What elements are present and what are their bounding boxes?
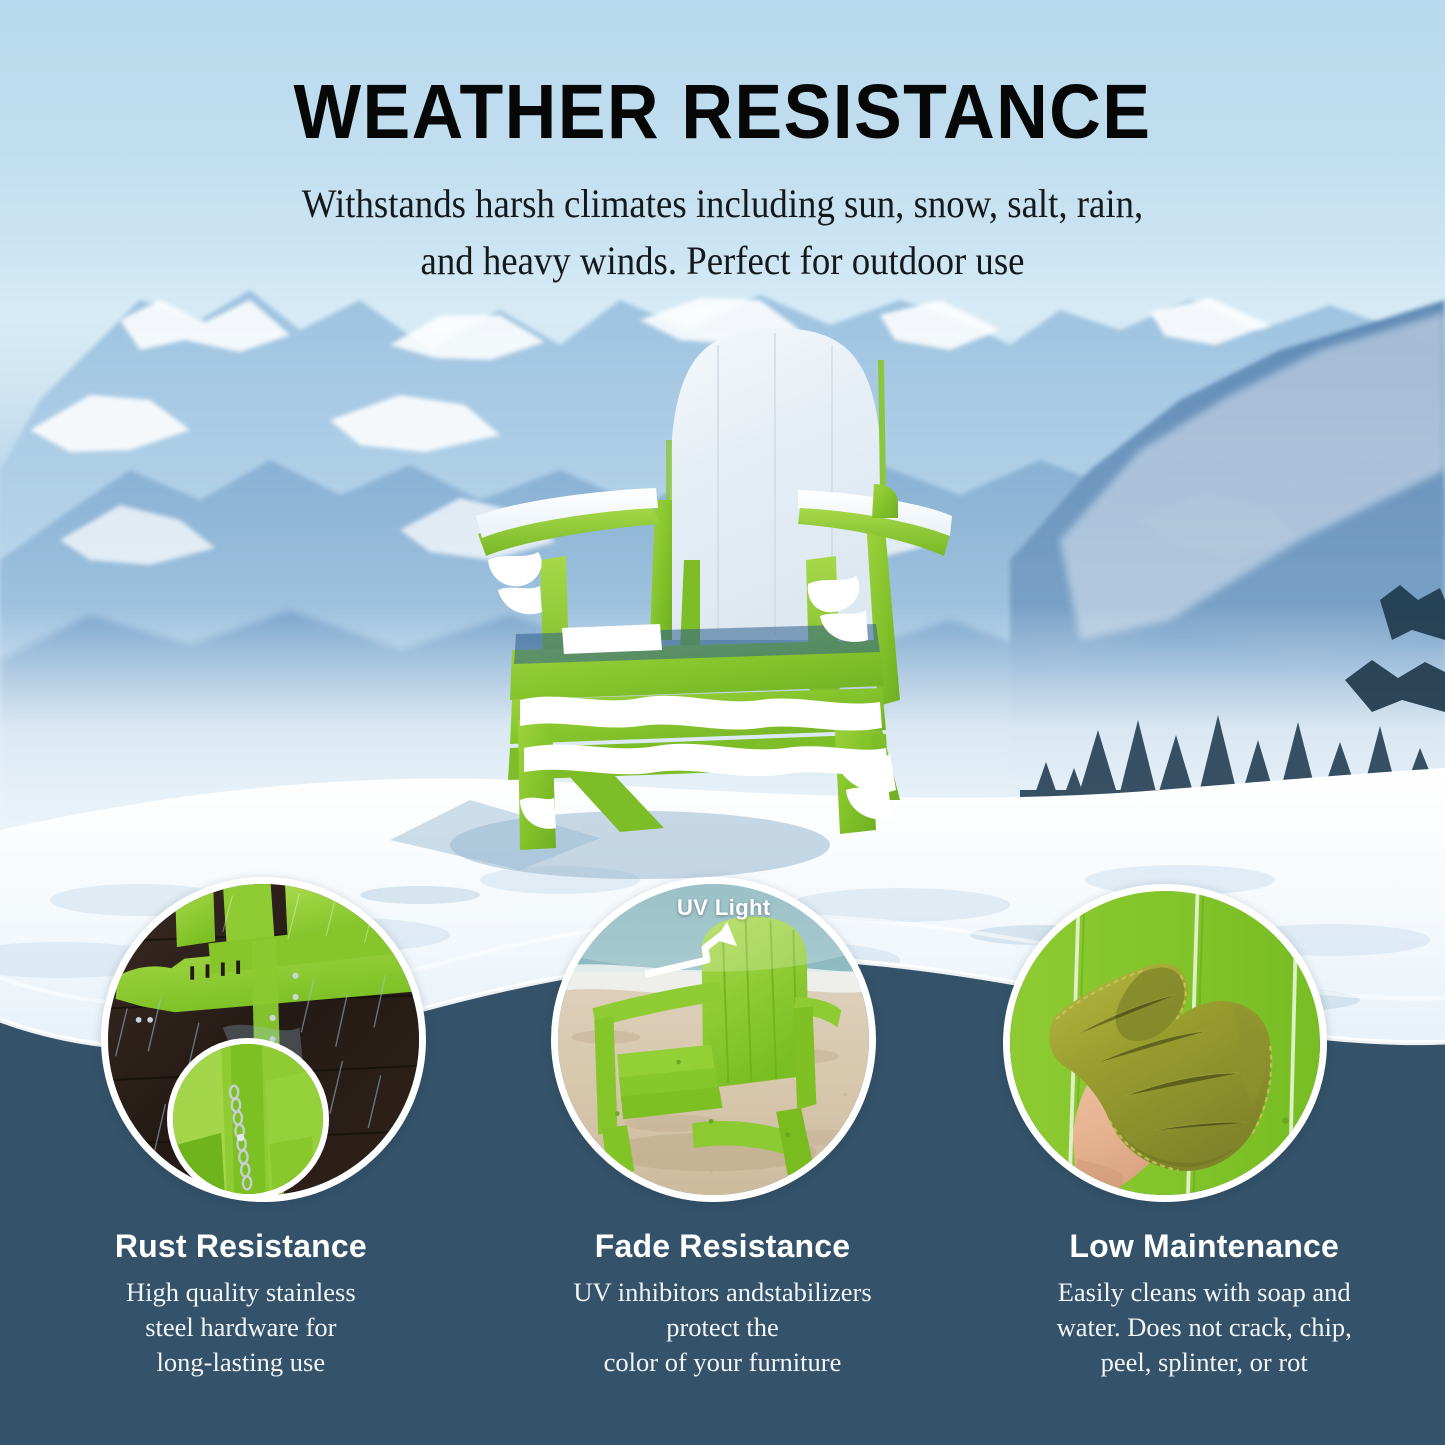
uv-light-arrow-icon: [645, 912, 765, 992]
feature-text-row: Rust Resistance High quality stainless s…: [0, 1228, 1445, 1380]
feature-image-low-maintenance: [1003, 884, 1327, 1202]
feature-title-fade-resistance: Fade Resistance: [496, 1228, 950, 1265]
feature-title-low-maintenance: Low Maintenance: [977, 1228, 1431, 1265]
header-block: WEATHER RESISTANCE Withstands harsh clim…: [0, 0, 1445, 290]
feature-fade-resistance: Fade Resistance UV inhibitors andstabili…: [482, 1228, 964, 1380]
subtitle-line-2: and heavy winds. Perfect for outdoor use: [58, 233, 1387, 290]
feature-low-maintenance: Low Maintenance Easily cleans with soap …: [963, 1228, 1445, 1380]
feature-image-rust-chain-detail: [167, 1038, 329, 1200]
page-title: WEATHER RESISTANCE: [51, 72, 1395, 152]
feature-description-fade-resistance: UV inhibitors andstabilizers protect the…: [496, 1275, 950, 1380]
infographic-canvas: WEATHER RESISTANCE Withstands harsh clim…: [0, 0, 1445, 1445]
feature-description-rust-resistance: High quality stainless steel hardware fo…: [14, 1275, 468, 1380]
subtitle-line-1: Withstands harsh climates including sun,…: [58, 176, 1387, 233]
page-subtitle: Withstands harsh climates including sun,…: [58, 176, 1387, 290]
feature-description-low-maintenance: Easily cleans with soap and water. Does …: [977, 1275, 1431, 1380]
feature-rust-resistance: Rust Resistance High quality stainless s…: [0, 1228, 482, 1380]
feature-title-rust-resistance: Rust Resistance: [14, 1228, 468, 1265]
